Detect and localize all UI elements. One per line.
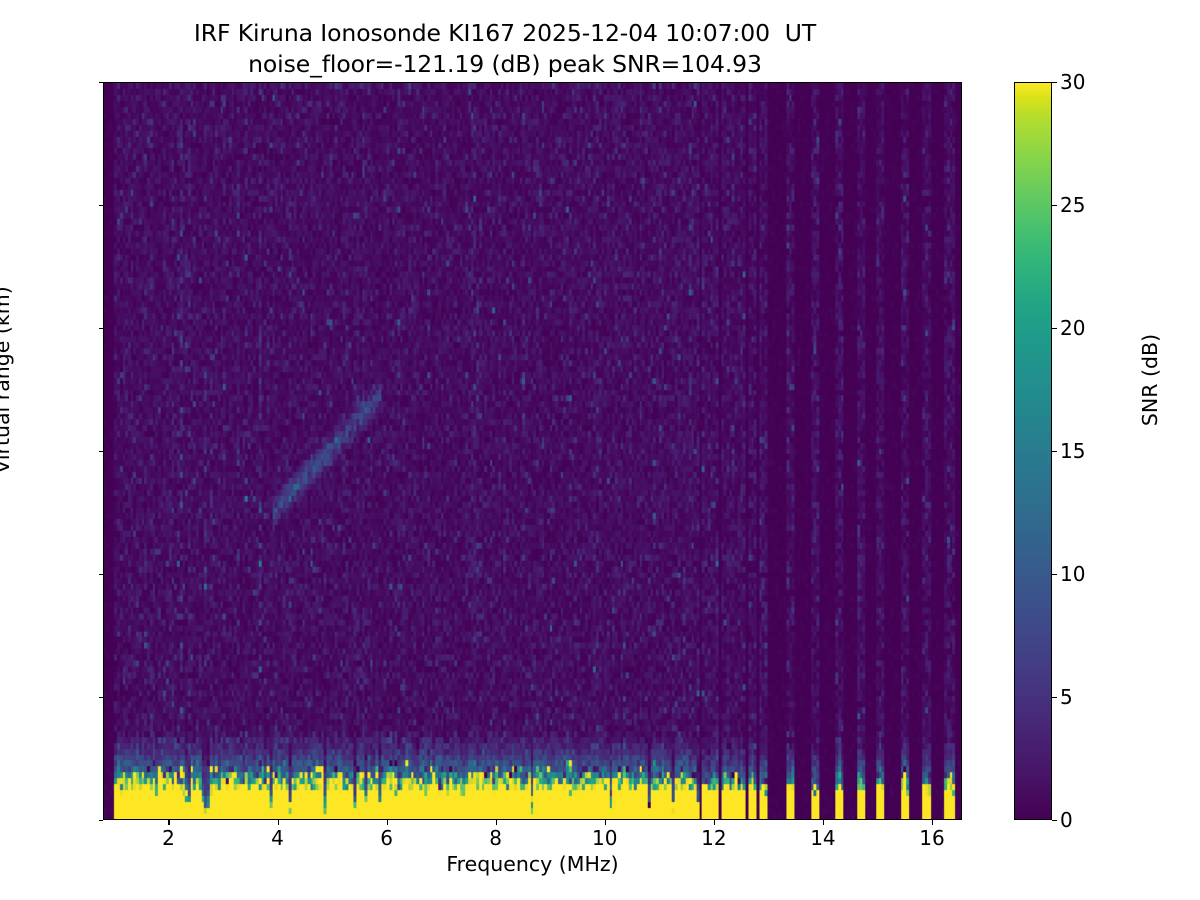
x-axis-tick-label: 16 [919,826,944,850]
y-axis-tick-mark [99,574,104,575]
y-axis-tick-mark [99,697,104,698]
colorbar-tick-mark [1052,205,1057,206]
heatmap-axes [103,82,962,820]
colorbar-tick-mark [1052,574,1057,575]
x-axis-tick-mark [932,820,933,825]
x-axis-tick-mark [496,820,497,825]
colorbar-tick-label: 25 [1060,193,1085,217]
colorbar-tick-mark [1052,451,1057,452]
x-axis-tick-label: 14 [810,826,835,850]
ionogram-heatmap-canvas [104,83,961,819]
title-line-1: IRF Kiruna Ionosonde KI167 2025-12-04 10… [0,18,1010,49]
colorbar-tick-mark [1052,328,1057,329]
x-axis-tick-mark [168,820,169,825]
y-axis-tick-mark [99,82,104,83]
colorbar-tick-label: 0 [1060,808,1073,832]
colorbar-tick-mark [1052,82,1057,83]
colorbar-tick-label: 15 [1060,439,1085,463]
x-axis-tick-label: 2 [162,826,175,850]
y-axis-tick-mark [99,820,104,821]
y-axis-label: Virtual range (km) [0,60,14,700]
x-axis-tick-mark [714,820,715,825]
x-axis-tick-mark [387,820,388,825]
colorbar-tick-label: 10 [1060,562,1085,586]
x-axis-tick-mark [823,820,824,825]
figure-title: IRF Kiruna Ionosonde KI167 2025-12-04 10… [0,18,1010,80]
snr-colorbar [1014,82,1052,820]
colorbar-tick-label: 20 [1060,316,1085,340]
x-axis-tick-label: 12 [701,826,726,850]
colorbar-tick-label: 30 [1060,70,1085,94]
colorbar-label: SNR (dB) [1138,60,1162,700]
title-line-2: noise_floor=-121.19 (dB) peak SNR=104.93 [0,49,1010,80]
colorbar-tick-mark [1052,697,1057,698]
x-axis-tick-label: 4 [271,826,284,850]
x-axis-tick-mark [278,820,279,825]
x-axis-tick-mark [605,820,606,825]
x-axis-label: Frequency (MHz) [103,852,962,876]
y-axis-tick-mark [99,451,104,452]
x-axis-tick-label: 6 [380,826,393,850]
colorbar-tick-mark [1052,820,1057,821]
y-axis-tick-mark [99,205,104,206]
x-axis-tick-label: 10 [592,826,617,850]
colorbar-tick-label: 5 [1060,685,1073,709]
ionogram-figure: IRF Kiruna Ionosonde KI167 2025-12-04 10… [0,0,1200,900]
x-axis-tick-label: 8 [489,826,502,850]
y-axis-tick-mark [99,328,104,329]
